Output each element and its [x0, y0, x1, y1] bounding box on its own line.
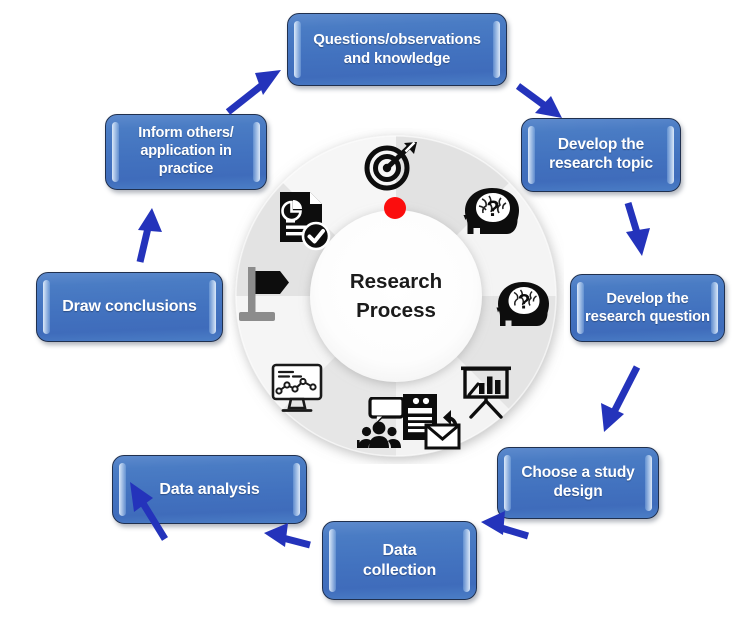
arrow-collection-to-analysis: [264, 523, 310, 547]
wheel-hub: [310, 210, 482, 382]
step-draw-conclusions[interactable]: Draw conclusions: [36, 272, 223, 342]
step-develop-research-question[interactable]: Develop the research question: [570, 274, 725, 342]
step-label: Develop the research question: [579, 290, 716, 326]
step-data-collection[interactable]: Data collection: [322, 521, 477, 600]
step-questions-observations[interactable]: Questions/observations and knowledge: [287, 13, 507, 86]
arrow-questions-to-topic: [518, 86, 562, 118]
step-label: Inform others/ application in practice: [124, 125, 247, 178]
step-inform-others[interactable]: Inform others/ application in practice: [105, 114, 267, 190]
step-label: Data analysis: [145, 480, 273, 500]
step-label: Choose a study design: [507, 464, 648, 502]
arrow-question-to-design: [601, 367, 637, 432]
step-label: Questions/observations and knowledge: [299, 31, 495, 68]
step-label: Develop the research topic: [535, 136, 667, 174]
arrow-conclusions-to-inform: [138, 208, 162, 262]
research-process-diagram: Research Process: [0, 0, 753, 622]
arrow-topic-to-question: [626, 203, 650, 256]
step-data-analysis[interactable]: Data analysis: [112, 455, 307, 524]
arrow-inform-to-questions: [228, 70, 281, 112]
step-choose-study-design[interactable]: Choose a study design: [497, 447, 659, 519]
step-label: Draw conclusions: [48, 297, 211, 317]
step-label: Data collection: [349, 541, 450, 580]
process-wheel: Research Process: [228, 128, 564, 464]
step-develop-research-topic[interactable]: Develop the research topic: [521, 118, 681, 192]
